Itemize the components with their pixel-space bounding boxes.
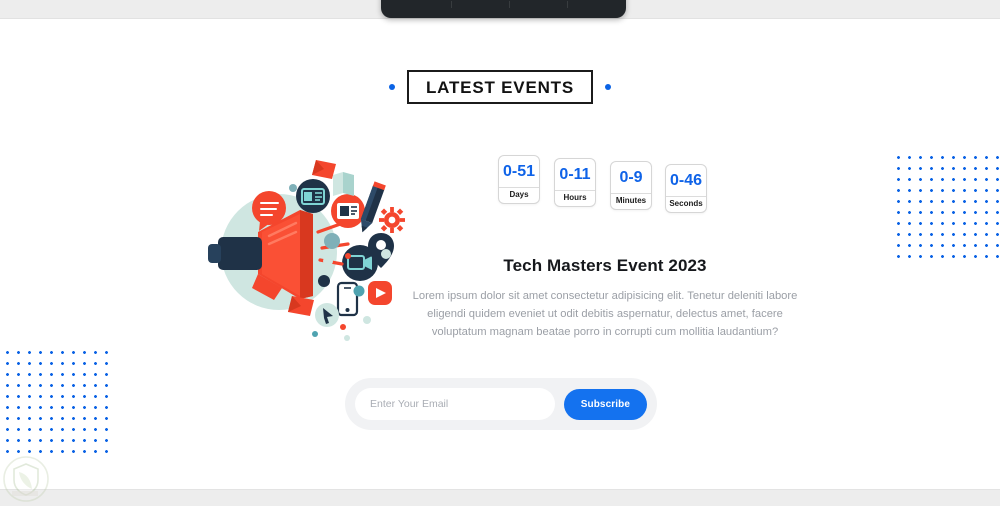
top-dark-toolbar[interactable]	[381, 0, 626, 18]
countdown-timer: 0-51 Days 0-11 Hours 0-9 Minutes 0-46 Se…	[498, 155, 714, 241]
toolbar-tick	[451, 1, 452, 8]
watermark-logo	[2, 455, 50, 503]
heading-box: LATEST EVENTS	[407, 70, 593, 104]
megaphone-marketing-illustration	[196, 148, 414, 348]
event-description: Lorem ipsum dolor sit amet consectetur a…	[404, 287, 806, 341]
countdown-value: 0-46	[666, 165, 706, 196]
countdown-label: Hours	[555, 190, 595, 206]
countdown-value: 0-51	[499, 156, 539, 187]
subscribe-form: Subscribe	[345, 378, 657, 430]
countdown-label: Minutes	[611, 193, 651, 209]
countdown-unit-days: 0-51 Days	[498, 155, 540, 204]
toolbar-tick	[567, 1, 568, 8]
dot-grid-decoration-left	[0, 345, 110, 458]
countdown-label: Seconds	[666, 196, 706, 212]
dot-grid-decoration-right	[891, 150, 1000, 262]
toolbar-tick	[509, 1, 510, 8]
email-field[interactable]	[355, 388, 555, 420]
countdown-label: Days	[499, 187, 539, 203]
event-title: Tech Masters Event 2023	[400, 256, 810, 276]
section-heading: LATEST EVENTS	[0, 70, 1000, 104]
countdown-value: 0-11	[555, 159, 595, 190]
page-title: LATEST EVENTS	[426, 79, 574, 96]
countdown-value: 0-9	[611, 162, 651, 193]
subscribe-button[interactable]: Subscribe	[564, 389, 647, 420]
bottom-chrome-band	[0, 489, 1000, 506]
accent-dot-left-icon	[389, 84, 395, 90]
countdown-unit-seconds: 0-46 Seconds	[665, 164, 707, 213]
countdown-unit-hours: 0-11 Hours	[554, 158, 596, 207]
accent-dot-right-icon	[605, 84, 611, 90]
countdown-unit-minutes: 0-9 Minutes	[610, 161, 652, 210]
